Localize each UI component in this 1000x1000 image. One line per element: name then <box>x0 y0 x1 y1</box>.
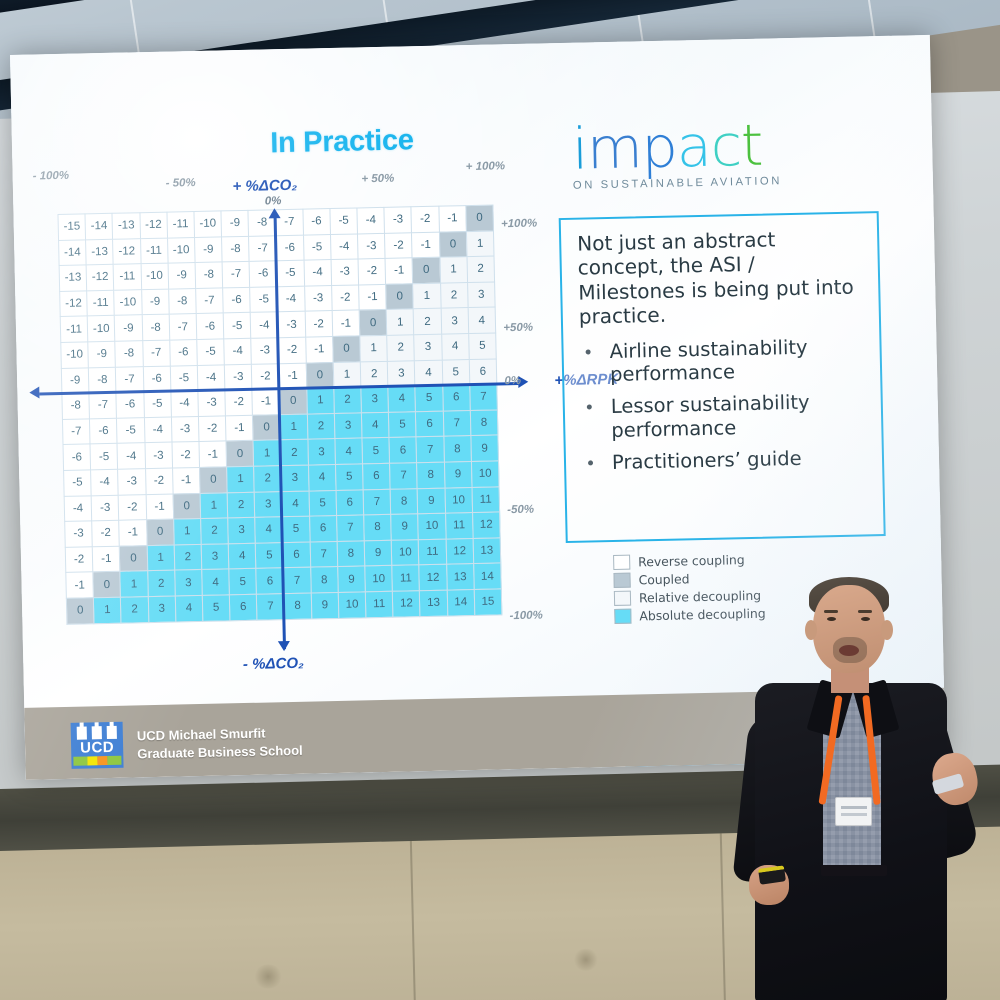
matrix-cell: 6 <box>309 516 337 542</box>
presenter-belt <box>821 865 887 876</box>
matrix-cell: -11 <box>113 264 141 290</box>
matrix-cell: 1 <box>360 335 388 361</box>
matrix-cell: 7 <box>443 410 471 436</box>
matrix-cell: 5 <box>282 516 310 542</box>
matrix-cell: -9 <box>194 237 222 263</box>
matrix-cell: 9 <box>444 461 472 487</box>
matrix-cell: 5 <box>309 490 337 516</box>
matrix-cell: 5 <box>362 438 390 464</box>
matrix-cell: -4 <box>197 364 225 390</box>
matrix-cell: 14 <box>474 563 502 589</box>
matrix-cell: 7 <box>390 463 418 489</box>
matrix-cell: -7 <box>116 366 144 392</box>
matrix-cell: 8 <box>444 436 472 462</box>
matrix-cell: -2 <box>118 494 146 520</box>
matrix-cell: 10 <box>391 539 419 565</box>
matrix-cell: 3 <box>175 570 203 596</box>
matrix-cell: 4 <box>308 464 336 490</box>
matrix-cell: 0 <box>226 441 254 467</box>
matrix-cell: -3 <box>198 390 226 416</box>
matrix-cell: 0 <box>199 467 227 493</box>
bullet-label: Lessor sustainability performance <box>611 391 810 442</box>
matrix-cell: 2 <box>147 570 175 596</box>
matrix-cell: -6 <box>170 339 198 365</box>
matrix-cell: 1 <box>440 257 468 283</box>
matrix-cell: 7 <box>363 489 391 515</box>
matrix-cell: -7 <box>222 262 250 288</box>
matrix-cell: -2 <box>198 416 226 442</box>
matrix-cell: 0 <box>306 362 334 388</box>
axis-label-co2-negative: - %ΔCO₂ <box>243 654 304 672</box>
matrix-cell: 13 <box>420 590 448 616</box>
matrix-cell: 8 <box>364 514 392 540</box>
matrix-cell: 2 <box>254 466 282 492</box>
axis-arrow-left-icon <box>29 387 39 399</box>
matrix-cell: -8 <box>62 393 90 419</box>
matrix-cell: 3 <box>441 308 469 334</box>
matrix-cell: 2 <box>174 544 202 570</box>
matrix-cell: 9 <box>338 566 366 592</box>
impact-letter-c: c <box>710 113 742 180</box>
legend-label: Coupled <box>638 571 689 587</box>
matrix-cell: 11 <box>419 539 447 565</box>
impact-letter-m: m <box>586 115 642 182</box>
tick-right-50: -50% <box>507 503 534 516</box>
matrix-cell: -6 <box>303 209 331 235</box>
matrix-cell: -1 <box>359 284 387 310</box>
matrix-cell: 12 <box>472 512 500 538</box>
matrix-cell: 3 <box>228 517 256 543</box>
matrix-cell: 5 <box>415 385 443 411</box>
matrix-cell: 1 <box>227 466 255 492</box>
tick-top-100: - 100% <box>33 170 70 183</box>
ucd-school-name: UCD Michael Smurfit Graduate Business Sc… <box>137 724 303 763</box>
matrix-cell: 8 <box>284 593 312 619</box>
matrix-cell: 5 <box>335 464 363 490</box>
matrix-cell: -1 <box>66 572 94 598</box>
matrix-cell: -8 <box>115 341 143 367</box>
matrix-cell: -15 <box>58 214 86 240</box>
matrix-cell: 0 <box>439 231 467 257</box>
matrix-cell: 1 <box>386 309 414 335</box>
matrix-cell: -11 <box>140 238 168 264</box>
matrix-cell: -2 <box>172 442 200 468</box>
matrix-cell: -6 <box>116 392 144 418</box>
matrix-cell: -6 <box>276 235 304 261</box>
matrix-cell: -4 <box>330 234 358 260</box>
matrix-cell: -6 <box>196 313 224 339</box>
matrix-cell: 0 <box>173 493 201 519</box>
ucd-logo-icon: UCD <box>71 722 124 769</box>
matrix-cell: -8 <box>222 236 250 262</box>
matrix-cell: -3 <box>278 312 306 338</box>
matrix-cell: 2 <box>280 439 308 465</box>
matrix-cell: -4 <box>91 469 119 495</box>
matrix-cell: 4 <box>228 543 256 569</box>
matrix-cell: 4 <box>415 360 443 386</box>
matrix-cell: -4 <box>304 260 332 286</box>
tick-top-0: 0% <box>265 195 282 207</box>
matrix-cell: 6 <box>256 568 284 594</box>
matrix-cell: 1 <box>120 571 148 597</box>
matrix-cell: 11 <box>365 591 393 617</box>
photo-scene: In Practice -15-14-13-12-11-10-9-8-7-6-5… <box>0 0 1000 1000</box>
matrix-cell: 4 <box>282 491 310 517</box>
presenter-mouth <box>839 645 859 656</box>
matrix-cell: 4 <box>361 412 389 438</box>
matrix-cell: 10 <box>365 566 393 592</box>
impact-wordmark: impact <box>572 116 873 177</box>
matrix-cell: -14 <box>85 213 113 239</box>
matrix-cell: 1 <box>413 283 441 309</box>
matrix-cell: -12 <box>113 238 141 264</box>
matrix-cell: -1 <box>412 232 440 258</box>
matrix-cell: -4 <box>171 391 199 417</box>
matrix-cell: -7 <box>249 235 277 261</box>
matrix-cell: -6 <box>63 444 91 470</box>
matrix-cell: -2 <box>305 311 333 337</box>
legend-swatch <box>613 572 630 587</box>
matrix-cell: -7 <box>169 314 197 340</box>
matrix-cell: -6 <box>143 366 171 392</box>
matrix-cell: -2 <box>385 232 413 258</box>
matrix-cell: 3 <box>201 544 229 570</box>
matrix-cell: 4 <box>468 307 496 333</box>
impact-logo: impact ON SUSTAINABLE AVIATION <box>572 116 873 192</box>
slide-title: In Practice <box>192 123 493 163</box>
matrix-cell: 4 <box>255 517 283 543</box>
tick-right-0: 0% <box>504 375 521 387</box>
matrix-cell: -9 <box>221 210 249 236</box>
matrix-cell: 0 <box>466 205 494 231</box>
presenter-eye-right <box>861 617 870 621</box>
matrix-cell: 3 <box>467 282 495 308</box>
matrix-cell: 9 <box>364 540 392 566</box>
matrix-cell: 5 <box>442 359 470 385</box>
matrix-cell: -1 <box>439 206 467 232</box>
tick-top-50: + 50% <box>361 173 394 186</box>
matrix-cell: -3 <box>145 442 173 468</box>
matrix-cell: -4 <box>277 286 305 312</box>
matrix-cell: 5 <box>468 333 496 359</box>
impact-letter-a: a <box>676 114 711 181</box>
bullet-dot-icon <box>588 461 593 466</box>
matrix-cell: 2 <box>387 335 415 361</box>
matrix-cell: -9 <box>88 341 116 367</box>
matrix-cell: 3 <box>361 386 389 412</box>
matrix-cell: -9 <box>115 315 143 341</box>
matrix-cell: 0 <box>333 336 361 362</box>
matrix-cell: -12 <box>140 212 168 238</box>
matrix-cell: 5 <box>202 595 230 621</box>
matrix-cell: 8 <box>337 541 365 567</box>
matrix-cell: 2 <box>414 309 442 335</box>
matrix-cell: 6 <box>283 542 311 568</box>
matrix-cell: -9 <box>168 263 196 289</box>
matrix-cell: -5 <box>330 208 358 234</box>
matrix-cell: 1 <box>466 231 494 257</box>
matrix-cell: 11 <box>472 486 500 512</box>
decoupling-matrix: -15-14-13-12-11-10-9-8-7-6-5-4-3-2-10-14… <box>57 204 502 624</box>
matrix-cell: -1 <box>385 258 413 284</box>
matrix-cell: -8 <box>89 367 117 393</box>
tick-right-50: +50% <box>503 321 533 334</box>
matrix-cell: -6 <box>90 418 118 444</box>
matrix-cell: 4 <box>335 438 363 464</box>
matrix-cell: -10 <box>141 263 169 289</box>
matrix-cell: 0 <box>279 388 307 414</box>
matrix-cell: 12 <box>393 591 421 617</box>
matrix-cell: -4 <box>250 312 278 338</box>
legend-swatch <box>613 554 630 569</box>
matrix-cell: -1 <box>305 336 333 362</box>
matrix-cell: 1 <box>253 440 281 466</box>
matrix-cell: 1 <box>200 492 228 518</box>
matrix-cell: 13 <box>446 564 474 590</box>
matrix-cell: 6 <box>416 411 444 437</box>
matrix-cell: -4 <box>117 443 145 469</box>
matrix-cell: -2 <box>358 259 386 285</box>
matrix-cell: -5 <box>143 391 171 417</box>
matrix-cell: -4 <box>144 417 172 443</box>
matrix-cell: -2 <box>411 206 439 232</box>
matrix-cell: -8 <box>142 314 170 340</box>
matrix-cell: -2 <box>331 285 359 311</box>
matrix-cell: -13 <box>59 265 87 291</box>
matrix-cell: -1 <box>92 546 120 572</box>
matrix-cell: 2 <box>467 256 495 282</box>
matrix-cell: 6 <box>469 359 497 385</box>
matrix-cell: 2 <box>440 282 468 308</box>
ucd-name-line2: Graduate Business School <box>137 741 303 762</box>
matrix-cell: 7 <box>337 515 365 541</box>
matrix-cell: -3 <box>251 338 279 364</box>
bullet-label: Practitioners’ guide <box>612 447 802 474</box>
presenter-brow-right <box>858 610 872 613</box>
matrix-cell: -5 <box>64 470 92 496</box>
matrix-cell: -10 <box>114 289 142 315</box>
matrix-cell: 2 <box>201 518 229 544</box>
matrix-cell: 1 <box>94 597 122 623</box>
tick-top-50: - 50% <box>166 177 196 190</box>
presenter-ear-left <box>805 620 817 640</box>
matrix-cell: 0 <box>66 598 94 624</box>
matrix-cell: 9 <box>311 592 339 618</box>
matrix-cell: -9 <box>141 289 169 315</box>
matrix-cell: 4 <box>202 569 230 595</box>
matrix-cell: -3 <box>65 521 93 547</box>
matrix-cell: -13 <box>112 213 140 239</box>
matrix-cell: 6 <box>229 594 257 620</box>
matrix-cell: -10 <box>61 342 89 368</box>
matrix-cell: 10 <box>338 592 366 618</box>
tick-right-100: +100% <box>501 218 537 231</box>
matrix-cell: -5 <box>90 444 118 470</box>
matrix-cell: 9 <box>471 435 499 461</box>
matrix-cell: 15 <box>474 589 502 615</box>
matrix-cell: -3 <box>384 207 412 233</box>
matrix-cell: 0 <box>120 545 148 571</box>
matrix-cell: -11 <box>167 212 195 238</box>
matrix-cell: 7 <box>257 594 285 620</box>
bullet-dot-icon <box>587 405 592 410</box>
matrix-cell: 10 <box>445 487 473 513</box>
matrix-cell: 7 <box>416 436 444 462</box>
matrix-cell: 10 <box>418 513 446 539</box>
matrix-cell: 6 <box>336 489 364 515</box>
matrix-cell: 4 <box>388 386 416 412</box>
matrix-cell: 8 <box>470 410 498 436</box>
matrix-cell: -10 <box>87 316 115 342</box>
matrix-cell: 2 <box>227 492 255 518</box>
matrix-cell: -5 <box>250 287 278 313</box>
matrix-cell: -6 <box>249 261 277 287</box>
matrix-cell: -1 <box>199 441 227 467</box>
impact-letter-p: p <box>641 114 678 181</box>
presenter-name-badge <box>835 797 872 826</box>
impact-letter-t: t <box>740 113 763 179</box>
matrix-cell: 3 <box>254 491 282 517</box>
matrix-cell: 0 <box>386 284 414 310</box>
matrix-cell: -6 <box>223 287 251 313</box>
matrix-cell: -3 <box>358 233 386 259</box>
matrix-cell: 12 <box>446 538 474 564</box>
presenter-brow-left <box>824 610 838 613</box>
matrix-cell: -7 <box>62 419 90 445</box>
matrix-cell: 0 <box>146 519 174 545</box>
matrix-cell: -1 <box>226 415 254 441</box>
matrix-cell: -5 <box>223 313 251 339</box>
matrix-cell: 7 <box>310 541 338 567</box>
tick-right-100: -100% <box>509 609 543 622</box>
matrix-cell: 3 <box>281 465 309 491</box>
axis-arrow-up-icon <box>268 208 280 218</box>
matrix-cell: 4 <box>175 595 203 621</box>
bullet-item: Airline sustainability performance <box>579 334 866 387</box>
matrix-cell: -10 <box>167 237 195 263</box>
matrix-cell: 1 <box>147 545 175 571</box>
matrix-cell: -12 <box>86 264 114 290</box>
matrix-cell: 4 <box>441 334 469 360</box>
matrix-cell: 0 <box>359 310 387 336</box>
bullet-item: Lessor sustainability performance <box>581 390 868 443</box>
matrix-cell: 14 <box>447 589 475 615</box>
matrix-cell: -1 <box>332 310 360 336</box>
matrix-cell: -11 <box>87 290 115 316</box>
matrix-cell: -7 <box>142 340 170 366</box>
matrix-cell: -5 <box>303 234 331 260</box>
presenter-eye-left <box>827 617 836 621</box>
matrix-cell: -3 <box>118 469 146 495</box>
matrix-cell: -11 <box>60 316 88 342</box>
callout-bullet-list: Airline sustainability performance Lesso… <box>579 334 868 475</box>
matrix-cell: 8 <box>417 462 445 488</box>
matrix-cell: -1 <box>146 494 174 520</box>
legend-label: Reverse coupling <box>638 552 745 569</box>
matrix-cell: -10 <box>194 211 222 237</box>
matrix-cell: 13 <box>473 538 501 564</box>
matrix-cell: -2 <box>252 363 280 389</box>
matrix-cell: -2 <box>92 520 120 546</box>
callout-lead-text: Not just an abstract concept, the ASI / … <box>577 225 865 329</box>
presenter-ear-right <box>881 620 893 640</box>
matrix-cell: -12 <box>60 291 88 317</box>
matrix-cell: 3 <box>334 413 362 439</box>
presenter <box>735 565 1000 1000</box>
matrix-cell: -4 <box>224 338 252 364</box>
matrix-cell: -5 <box>277 260 305 286</box>
matrix-cell: 1 <box>307 388 335 414</box>
matrix-cell: 9 <box>391 514 419 540</box>
matrix-cell: -4 <box>357 207 385 233</box>
matrix-cell: 11 <box>445 513 473 539</box>
matrix-cell: 7 <box>283 567 311 593</box>
matrix-cell: -3 <box>91 495 119 521</box>
matrix-cell: -2 <box>65 547 93 573</box>
legend-swatch <box>614 608 631 623</box>
matrix-cell: 6 <box>363 463 391 489</box>
impact-letter-i: i <box>571 116 587 182</box>
matrix-cell: 2 <box>121 597 149 623</box>
matrix-cell: -3 <box>171 416 199 442</box>
matrix-cell: -5 <box>117 417 145 443</box>
matrix-cell: 3 <box>414 334 442 360</box>
matrix-cell: 12 <box>419 564 447 590</box>
callout-box: Not just an abstract concept, the ASI / … <box>559 211 886 543</box>
matrix-cell: -8 <box>195 262 223 288</box>
matrix-cell: -1 <box>119 520 147 546</box>
matrix-cell: -7 <box>196 288 224 314</box>
axis-label-co2-positive: + %ΔCO₂ <box>232 177 297 195</box>
matrix-cell: 1 <box>173 519 201 545</box>
matrix-cell: 5 <box>256 542 284 568</box>
matrix-cell: -1 <box>279 363 307 389</box>
matrix-cell: -9 <box>61 367 89 393</box>
matrix-cell: -4 <box>64 495 92 521</box>
matrix-cell: 6 <box>442 385 470 411</box>
matrix-cell: -2 <box>225 389 253 415</box>
matrix-cell: -2 <box>278 337 306 363</box>
matrix-cell: 7 <box>470 384 498 410</box>
matrix-cell: -3 <box>224 364 252 390</box>
matrix-cell: -7 <box>89 392 117 418</box>
matrix-cell: 8 <box>310 567 338 593</box>
matrix-cell: 0 <box>412 257 440 283</box>
matrix-cell: 2 <box>307 413 335 439</box>
matrix-cell: -1 <box>252 389 280 415</box>
matrix-cell: -5 <box>197 339 225 365</box>
matrix-cell: -8 <box>168 288 196 314</box>
matrix-cell: 3 <box>148 596 176 622</box>
matrix-cell: 2 <box>360 361 388 387</box>
matrix-cell: 9 <box>417 488 445 514</box>
tick-top-100: + 100% <box>466 160 506 173</box>
matrix-cell: -3 <box>304 285 332 311</box>
matrix-cell: -13 <box>86 239 114 265</box>
matrix-cell: 8 <box>390 488 418 514</box>
ucd-logo-text: UCD <box>71 739 123 757</box>
matrix-cell: -2 <box>145 468 173 494</box>
matrix-cell: 1 <box>333 361 361 387</box>
matrix-cell: -3 <box>331 259 359 285</box>
matrix-cell: 3 <box>308 439 336 465</box>
matrix-cell: 5 <box>389 411 417 437</box>
ucd-logo-strip <box>73 756 121 766</box>
matrix-cell: -14 <box>59 239 87 265</box>
matrix-cell: 5 <box>229 569 257 595</box>
matrix-cell: 11 <box>392 565 420 591</box>
bullet-item: Practitioners’ guide <box>582 446 868 476</box>
